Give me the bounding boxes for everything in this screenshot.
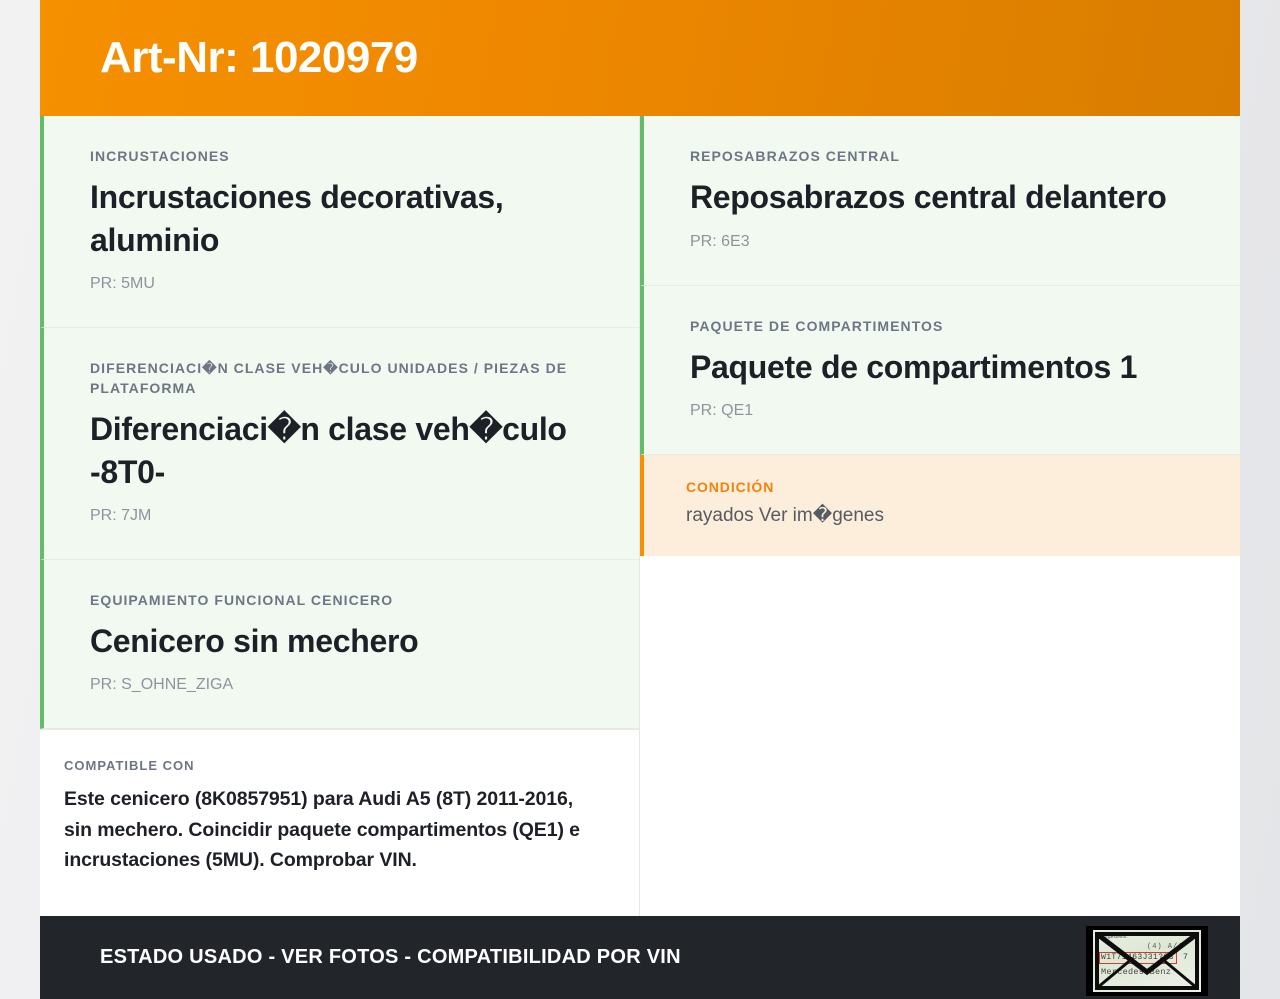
footer-status-text: ESTADO USADO - VER FOTOS - COMPATIBILIDA… <box>40 946 681 969</box>
right-column: REPOSABRAZOS CENTRAL Reposabrazos centra… <box>640 116 1240 916</box>
compatibility-section: COMPATIBLE CON Este cenicero (8K0857951)… <box>40 729 639 905</box>
feature-pr-code: PR: S_OHNE_ZIGA <box>90 676 593 694</box>
product-info-page: Art-Nr: 1020979 INCRUSTACIONES Incrustac… <box>40 0 1240 999</box>
broken-image-envelope-icon <box>1093 930 1201 992</box>
feature-card[interactable]: EQUIPAMIENTO FUNCIONAL CENICERO Cenicero… <box>40 560 639 730</box>
feature-pr-code: PR: 5MU <box>90 275 593 293</box>
broken-image-thumbnail[interactable]: Fahrgestellnr. (4) A/A W1T71463J31?03 7 … <box>1086 926 1208 996</box>
registration-document-image: Fahrgestellnr. (4) A/A W1T71463J31?03 7 … <box>1093 930 1201 992</box>
right-column-filler <box>640 556 1240 916</box>
condition-text: rayados Ver im�genes <box>686 503 1194 530</box>
article-header: Art-Nr: 1020979 <box>40 0 1240 116</box>
feature-title: Incrustaciones decorativas, aluminio <box>90 176 593 260</box>
feature-title: Cenicero sin mechero <box>90 620 593 662</box>
page-title: Art-Nr: 1020979 <box>40 33 418 83</box>
feature-card[interactable]: DIFERENCIACI�N CLASE VEH�CULO UNIDADES /… <box>40 328 639 560</box>
feature-card[interactable]: REPOSABRAZOS CENTRAL Reposabrazos centra… <box>640 116 1240 286</box>
feature-card[interactable]: INCRUSTACIONES Incrustaciones decorativa… <box>40 116 639 328</box>
status-footer: ESTADO USADO - VER FOTOS - COMPATIBILIDA… <box>40 916 1240 999</box>
feature-label: DIFERENCIACI�N CLASE VEH�CULO UNIDADES /… <box>90 358 593 399</box>
feature-card[interactable]: PAQUETE DE COMPARTIMENTOS Paquete de com… <box>640 286 1240 456</box>
feature-pr-code: PR: 7JM <box>90 507 593 525</box>
condition-card[interactable]: CONDICIÓN rayados Ver im�genes <box>640 455 1240 556</box>
feature-columns: INCRUSTACIONES Incrustaciones decorativa… <box>40 116 1240 916</box>
feature-label: REPOSABRAZOS CENTRAL <box>690 146 1194 166</box>
feature-title: Reposabrazos central delantero <box>690 176 1194 218</box>
feature-label: INCRUSTACIONES <box>90 146 593 166</box>
condition-label: CONDICIÓN <box>686 477 1194 497</box>
feature-label: PAQUETE DE COMPARTIMENTOS <box>690 316 1194 336</box>
feature-title: Paquete de compartimentos 1 <box>690 346 1194 388</box>
feature-pr-code: PR: QE1 <box>690 402 1194 420</box>
feature-label: EQUIPAMIENTO FUNCIONAL CENICERO <box>90 590 593 610</box>
left-column-filler <box>40 905 639 916</box>
compatibility-label: COMPATIBLE CON <box>64 758 599 773</box>
left-column: INCRUSTACIONES Incrustaciones decorativa… <box>40 116 640 916</box>
feature-pr-code: PR: 6E3 <box>690 233 1194 251</box>
compatibility-text: Este cenicero (8K0857951) para Audi A5 (… <box>64 784 599 875</box>
feature-title: Diferenciaci�n clase veh�culo -8T0- <box>90 408 593 492</box>
